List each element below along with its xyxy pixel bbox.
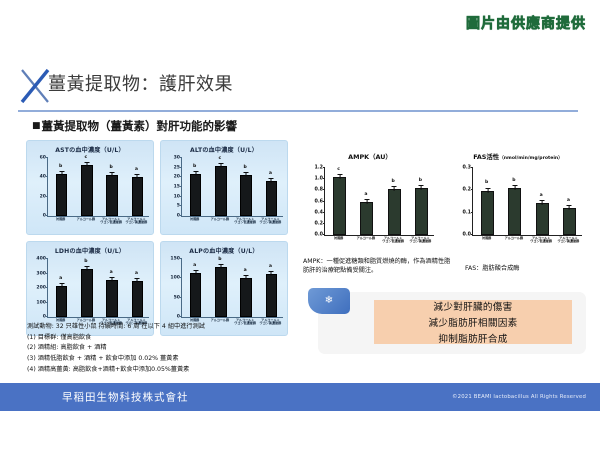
x-axis-label: アルコール＋ウコン低濃度群 xyxy=(530,237,552,244)
error-bar-cap xyxy=(110,172,115,173)
chart-panel-alt: ALTの血中濃度（U/L） 051015202530b対照群cアルコール群bアル… xyxy=(160,140,288,235)
y-tick xyxy=(323,167,325,168)
study-notes-header: 測試動物: 32 只雄性小鼠 持續時間: 6 周 在以下 4 組中進行測試 xyxy=(27,322,299,333)
significance-label: a xyxy=(540,193,543,198)
x-axis-label: 対照群 xyxy=(334,237,343,241)
significance-label: b xyxy=(512,178,515,183)
y-tick-label: 100 xyxy=(36,300,46,305)
y-tick xyxy=(180,167,182,168)
error-bar-cap xyxy=(59,171,64,172)
significance-label: a xyxy=(193,263,196,268)
significance-label: b xyxy=(218,257,221,262)
chart-title-fas: FAS活性（nmol/min/mg/protein） xyxy=(446,152,590,161)
snowflake-icon: ❄ xyxy=(325,296,333,306)
y-tick xyxy=(323,189,325,190)
y-tick xyxy=(180,205,182,206)
y-tick xyxy=(323,201,325,202)
fas-description: FAS：脂肪酸合成酶 xyxy=(465,265,519,274)
y-tick xyxy=(46,302,48,303)
title-divider xyxy=(18,110,578,112)
y-tick xyxy=(180,196,182,197)
y-tick xyxy=(46,157,48,158)
footer-brand: 早稻田生物科技株式會社 xyxy=(62,390,189,405)
y-tick-label: 0.0 xyxy=(315,233,324,238)
x-mark-icon xyxy=(18,68,52,104)
error-bar-cap xyxy=(218,163,223,164)
y-tick-label: 0.3 xyxy=(463,166,472,171)
chart-panel-fas: FAS活性（nmol/min/mg/protein） 0.00.10.20.3b… xyxy=(446,150,590,254)
y-tick-label: 150 xyxy=(170,257,180,262)
y-tick-label: 0.2 xyxy=(315,221,324,226)
callout-line-2: 減少脂肪肝相關因素 xyxy=(428,315,517,329)
chart-panel-ast: ASTの血中濃度（U/L） 0204060b対照群cアルコール群bアルコール＋ウ… xyxy=(26,140,154,235)
x-axis-label: 対照群 xyxy=(56,218,65,222)
chart-title-alp: ALPの血中濃度（U/L） xyxy=(161,246,287,255)
study-notes-item: (2) 酒精組: 高脂飲食 + 酒精 xyxy=(27,343,299,354)
significance-label: a xyxy=(244,268,247,273)
chart-title-ampk: AMPK（AU） xyxy=(298,152,442,161)
error-bar-cap xyxy=(84,266,89,267)
chart-bar xyxy=(360,202,373,235)
error-bar-cap xyxy=(218,264,223,265)
y-tick xyxy=(323,178,325,179)
chart-bar xyxy=(240,278,252,317)
significance-label: b xyxy=(243,165,246,170)
significance-label: a xyxy=(567,198,570,203)
chart-bar xyxy=(132,177,144,216)
y-tick-label: 0.6 xyxy=(315,199,324,204)
y-tick xyxy=(46,273,48,274)
significance-label: b xyxy=(391,179,394,184)
footer-copyright: ©2021 BEAMI lactobacillus All Rights Res… xyxy=(452,394,586,400)
significance-label: b xyxy=(419,178,422,183)
supplier-badge: 圖片由供應商提供 xyxy=(466,13,586,33)
y-tick-label: 0.1 xyxy=(463,210,472,215)
chart-bar xyxy=(106,280,118,317)
y-tick xyxy=(180,258,182,259)
right-chart-grid: AMPK（AU） 0.00.20.40.60.81.01.2c対照群aアルコール… xyxy=(298,150,590,254)
chart-bar xyxy=(81,165,93,216)
chart-bar xyxy=(333,177,346,235)
y-tick xyxy=(180,297,182,298)
y-tick-label: 0.0 xyxy=(463,233,472,238)
chart-title-ampk-text: AMPK（AU） xyxy=(348,153,392,161)
chart-bar xyxy=(190,273,202,317)
y-tick xyxy=(323,212,325,213)
chart-plot-alp: 050100150a対照群bアルコール群aアルコール＋ウコン低濃度群aアルコール… xyxy=(181,259,283,318)
x-axis-label: 対照群 xyxy=(482,237,491,241)
chart-bar xyxy=(266,181,278,216)
slide-title-row: 薑黃提取物：護肝效果 xyxy=(18,70,582,104)
y-tick xyxy=(46,176,48,177)
chart-bar xyxy=(388,189,401,235)
study-notes-item: (3) 酒精低脂飲食 + 酒精 + 飲食中添加 0.02% 薑黃素 xyxy=(27,354,299,365)
subtitle-text: 薑黃提取物（薑黃素）對肝功能的影響 xyxy=(42,119,238,133)
chart-plot-ampk: 0.00.20.40.60.81.01.2c対照群aアルコール群bアルコール＋ウ… xyxy=(324,168,434,236)
y-tick xyxy=(471,189,473,190)
error-bar-cap xyxy=(84,162,89,163)
y-tick-label: 1.0 xyxy=(315,177,324,182)
callout-line-1: 減少對肝臟的傷害 xyxy=(433,299,512,313)
x-axis-label: アルコール＋ウコン高濃度群 xyxy=(126,218,148,225)
chart-plot-ldh: 0100200300400a対照群bアルコール群aアルコール＋ウコン低濃度群aア… xyxy=(47,259,149,318)
chart-bar xyxy=(215,267,227,317)
y-tick xyxy=(46,258,48,259)
significance-label: a xyxy=(364,192,367,197)
y-tick-label: 200 xyxy=(36,286,46,291)
study-notes-item: (1) 目標群: 僅高脂飲食 xyxy=(27,333,299,344)
x-axis-label: 対照群 xyxy=(190,218,199,222)
significance-label: a xyxy=(110,270,113,275)
y-tick xyxy=(471,234,473,235)
error-bar-cap xyxy=(337,174,342,175)
significance-label: a xyxy=(269,171,272,176)
x-axis-label: アルコール群 xyxy=(77,218,95,222)
y-tick xyxy=(46,316,48,317)
y-tick-label: 1.2 xyxy=(315,166,324,171)
significance-label: c xyxy=(85,155,88,160)
chart-bar xyxy=(106,175,118,216)
chart-bar xyxy=(563,208,576,235)
y-tick xyxy=(46,215,48,216)
error-bar-cap xyxy=(419,185,424,186)
significance-label: b xyxy=(84,259,87,264)
callout-line-3: 抑制脂肪肝合成 xyxy=(438,331,507,345)
study-notes-item: (4) 酒精高薑黃: 高脂飲食+酒精+飲食中添加0.05%薑黃素 xyxy=(27,365,299,376)
y-tick xyxy=(180,157,182,158)
y-tick-label: 400 xyxy=(36,257,46,262)
error-bar-cap xyxy=(392,186,397,187)
x-axis-label: アルコール群 xyxy=(211,218,229,222)
significance-label: b xyxy=(485,180,488,185)
error-bar-cap xyxy=(364,199,369,200)
left-chart-grid: ASTの血中濃度（U/L） 0204060b対照群cアルコール群bアルコール＋ウ… xyxy=(26,140,288,336)
error-bar-cap xyxy=(135,278,140,279)
error-bar-cap xyxy=(244,172,249,173)
chart-bar xyxy=(56,174,68,216)
x-axis-label: アルコール＋ウコン低濃度群 xyxy=(234,218,256,225)
error-bar-cap xyxy=(485,188,490,189)
x-axis-label: アルコール群 xyxy=(357,237,375,241)
significance-label: b xyxy=(109,165,112,170)
y-tick xyxy=(180,186,182,187)
significance-label: c xyxy=(219,156,222,161)
chart-bar xyxy=(56,286,68,317)
chart-unit-fas: （nmol/min/mg/protein） xyxy=(499,156,563,161)
error-bar-cap xyxy=(512,185,517,186)
y-tick xyxy=(323,223,325,224)
y-tick xyxy=(471,167,473,168)
chart-title-ldh: LDHの血中濃度（U/L） xyxy=(27,246,153,255)
page-title: 薑黃提取物：護肝效果 xyxy=(48,70,233,96)
y-tick xyxy=(180,277,182,278)
error-bar-cap xyxy=(193,270,198,271)
chart-bar xyxy=(81,269,93,317)
y-tick xyxy=(180,215,182,216)
chart-bar xyxy=(215,166,227,216)
section-subtitle: ■薑黃提取物（薑黃素）對肝功能的影響 xyxy=(32,118,237,134)
study-notes: 測試動物: 32 只雄性小鼠 持續時間: 6 周 在以下 4 組中進行測試 (1… xyxy=(27,322,299,375)
x-axis-label: アルコール＋ウコン高濃度群 xyxy=(410,237,432,244)
chart-plot-ast: 0204060b対照群cアルコール群bアルコール＋ウコン低濃度群aアルコール＋ウ… xyxy=(47,158,149,217)
y-tick-label: 100 xyxy=(170,276,180,281)
error-bar-cap xyxy=(110,277,115,278)
y-tick xyxy=(471,212,473,213)
chart-bar xyxy=(481,191,494,235)
chart-bar xyxy=(132,281,144,317)
y-tick xyxy=(46,196,48,197)
y-tick xyxy=(323,234,325,235)
x-axis-label: アルコール群 xyxy=(505,237,523,241)
significance-label: b xyxy=(59,164,62,169)
error-bar-cap xyxy=(135,174,140,175)
chart-plot-alt: 051015202530b対照群cアルコール群bアルコール＋ウコン低濃度群aアル… xyxy=(181,158,283,217)
chart-bar xyxy=(508,188,521,235)
y-tick-label: 0.8 xyxy=(315,188,324,193)
chart-title-fas-text: FAS活性 xyxy=(473,153,499,161)
error-bar-cap xyxy=(540,200,545,201)
chart-title-alt: ALTの血中濃度（U/L） xyxy=(161,145,287,154)
chart-bar xyxy=(536,203,549,235)
error-bar-cap xyxy=(269,271,274,272)
callout-body: 減少對肝臟的傷害 減少脂肪肝相關因素 抑制脂肪肝合成 xyxy=(374,300,572,344)
significance-label: a xyxy=(135,271,138,276)
x-axis-label: アルコール＋ウコン高濃度群 xyxy=(260,218,282,225)
chart-bar xyxy=(415,188,428,235)
chart-bar xyxy=(190,174,202,216)
chart-plot-fas: 0.00.10.20.3b対照群bアルコール群aアルコール＋ウコン低濃度群aアル… xyxy=(472,168,582,236)
significance-label: c xyxy=(337,167,340,172)
y-tick-label: 300 xyxy=(36,271,46,276)
error-bar-cap xyxy=(244,275,249,276)
callout-tab: ❄ xyxy=(308,288,350,314)
error-bar-cap xyxy=(567,205,572,206)
x-axis-label: アルコール＋ウコン低濃度群 xyxy=(382,237,404,244)
y-tick xyxy=(180,316,182,317)
error-bar-cap xyxy=(59,283,64,284)
chart-title-ast: ASTの血中濃度（U/L） xyxy=(27,145,153,154)
significance-label: a xyxy=(59,276,62,281)
significance-label: a xyxy=(269,264,272,269)
chart-panel-ampk: AMPK（AU） 0.00.20.40.60.81.01.2c対照群aアルコール… xyxy=(298,150,442,254)
ampk-description: AMPK：一種促進糖類和脂質燃燒的酶，作為酒精性脂肪肝的治療靶點備受關注。 xyxy=(303,258,453,276)
slide-footer: 早稻田生物科技株式會社 ©2021 BEAMI lactobacillus Al… xyxy=(0,383,600,411)
x-axis-label: アルコール＋ウコン高濃度群 xyxy=(558,237,580,244)
significance-label: b xyxy=(193,164,196,169)
subtitle-bullet-icon: ■ xyxy=(32,121,41,131)
y-tick xyxy=(46,287,48,288)
chart-bar xyxy=(240,175,252,216)
conclusion-callout: ❄ 減少對肝臟的傷害 減少脂肪肝相關因素 抑制脂肪肝合成 xyxy=(308,288,586,354)
x-axis-label: アルコール＋ウコン低濃度群 xyxy=(100,218,122,225)
y-tick xyxy=(180,176,182,177)
significance-label: a xyxy=(135,167,138,172)
y-tick-label: 0.4 xyxy=(315,210,324,215)
error-bar-cap xyxy=(269,178,274,179)
y-tick-label: 0.2 xyxy=(463,188,472,193)
error-bar-cap xyxy=(193,171,198,172)
chart-bar xyxy=(266,274,278,317)
slide-root: 圖片由供應商提供 薑黃提取物：護肝效果 ■薑黃提取物（薑黃素）對肝功能的影響 A… xyxy=(0,0,600,464)
